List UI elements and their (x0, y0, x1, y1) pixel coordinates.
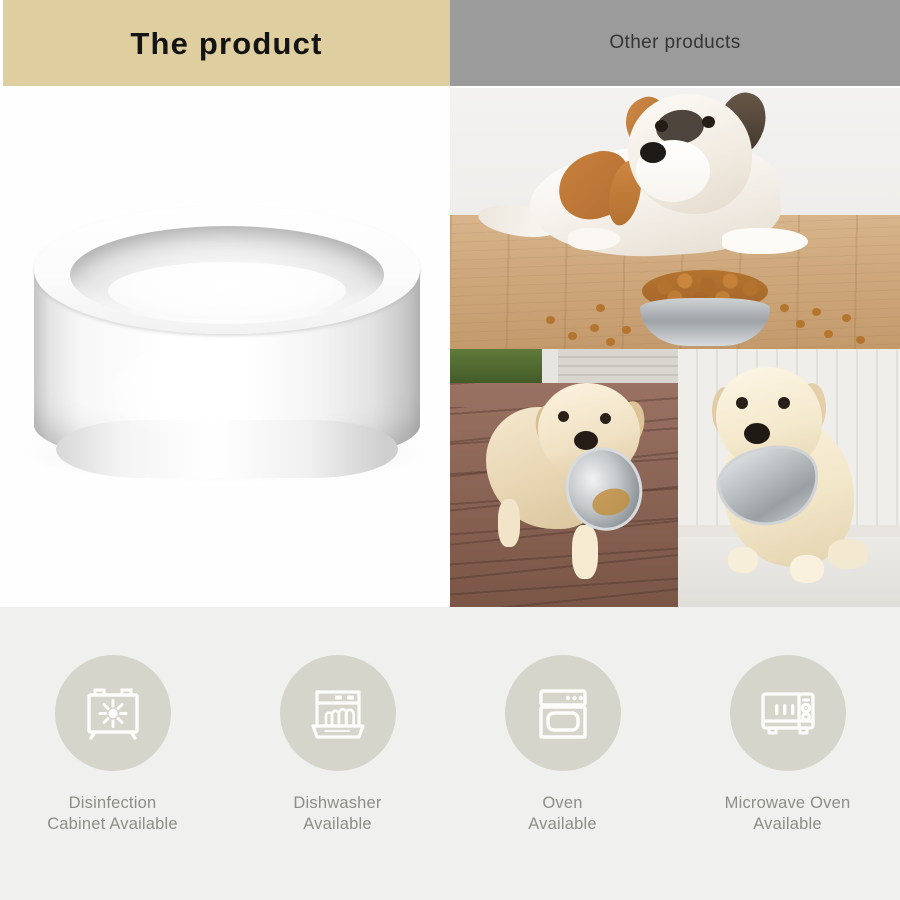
photo3-puppy-paw-front-left (728, 547, 758, 573)
feature-label: Disinfection Cabinet Available (47, 793, 178, 836)
header-the-product: The product (3, 0, 450, 86)
dishwasher-icon (305, 680, 371, 746)
photo3-puppy-paw-rear (828, 539, 868, 569)
feature-label-line1: Oven (528, 793, 596, 814)
feature-label-line2: Cabinet Available (47, 814, 178, 835)
header-other-products: Other products (450, 0, 900, 86)
feature-label: Oven Available (528, 793, 596, 836)
feature-icon-circle (55, 655, 171, 771)
media-comparison-area (0, 88, 900, 607)
header-other-products-label: Other products (609, 32, 740, 54)
photo-terrier-with-food-bowl (450, 88, 900, 349)
bowl-highlight (112, 346, 262, 438)
microwave-oven-icon (755, 680, 821, 746)
feature-icon-circle (280, 655, 396, 771)
oven-icon (530, 680, 596, 746)
photo2-puppy-leg-left (498, 499, 520, 547)
other-products-photo-pane (450, 88, 900, 607)
feature-label: Dishwasher Available (293, 793, 381, 836)
product-photo-pane (0, 88, 450, 607)
photo-golden-puppy-carrying-bowl (450, 349, 678, 607)
feature-label: Microwave Oven Available (725, 793, 851, 836)
feature-label-line2: Available (725, 814, 851, 835)
photo2-puppy-eye-right (600, 413, 611, 424)
feature-disinfection-cabinet: Disinfection Cabinet Available (8, 655, 218, 836)
feature-label-line2: Available (293, 814, 381, 835)
product-comparison-infographic: The product Other products (0, 0, 900, 900)
header-the-product-label: The product (130, 28, 322, 59)
photo3-puppy-paw-front-right (790, 555, 824, 583)
photo2-puppy-eye-left (558, 411, 569, 422)
feature-icon-circle (730, 655, 846, 771)
feature-label-line1: Dishwasher (293, 793, 381, 814)
photo3-puppy-eye-right (778, 397, 790, 409)
photo-labrador-puppy-holding-bowl (678, 349, 900, 607)
photo1-scattered-kibble (450, 88, 900, 349)
feature-icon-circle (505, 655, 621, 771)
feature-label-line1: Microwave Oven (725, 793, 851, 814)
photo3-puppy-eye-left (736, 397, 748, 409)
comparison-header: The product Other products (0, 0, 900, 86)
photo-bottom-row (450, 349, 900, 607)
feature-label-line2: Available (528, 814, 596, 835)
feature-badges-row: Disinfection Cabinet Available (0, 607, 900, 900)
photo3-puppy-nose (744, 423, 770, 444)
feature-oven: Oven Available (458, 655, 668, 836)
feature-dishwasher: Dishwasher Available (233, 655, 443, 836)
bowl-inner-floor (108, 262, 346, 320)
white-ceramic-pet-bowl-image (16, 206, 436, 496)
photo2-puppy-leg-right (572, 525, 598, 579)
disinfection-cabinet-icon (80, 680, 146, 746)
feature-microwave-oven: Microwave Oven Available (683, 655, 893, 836)
feature-label-line1: Disinfection (47, 793, 178, 814)
